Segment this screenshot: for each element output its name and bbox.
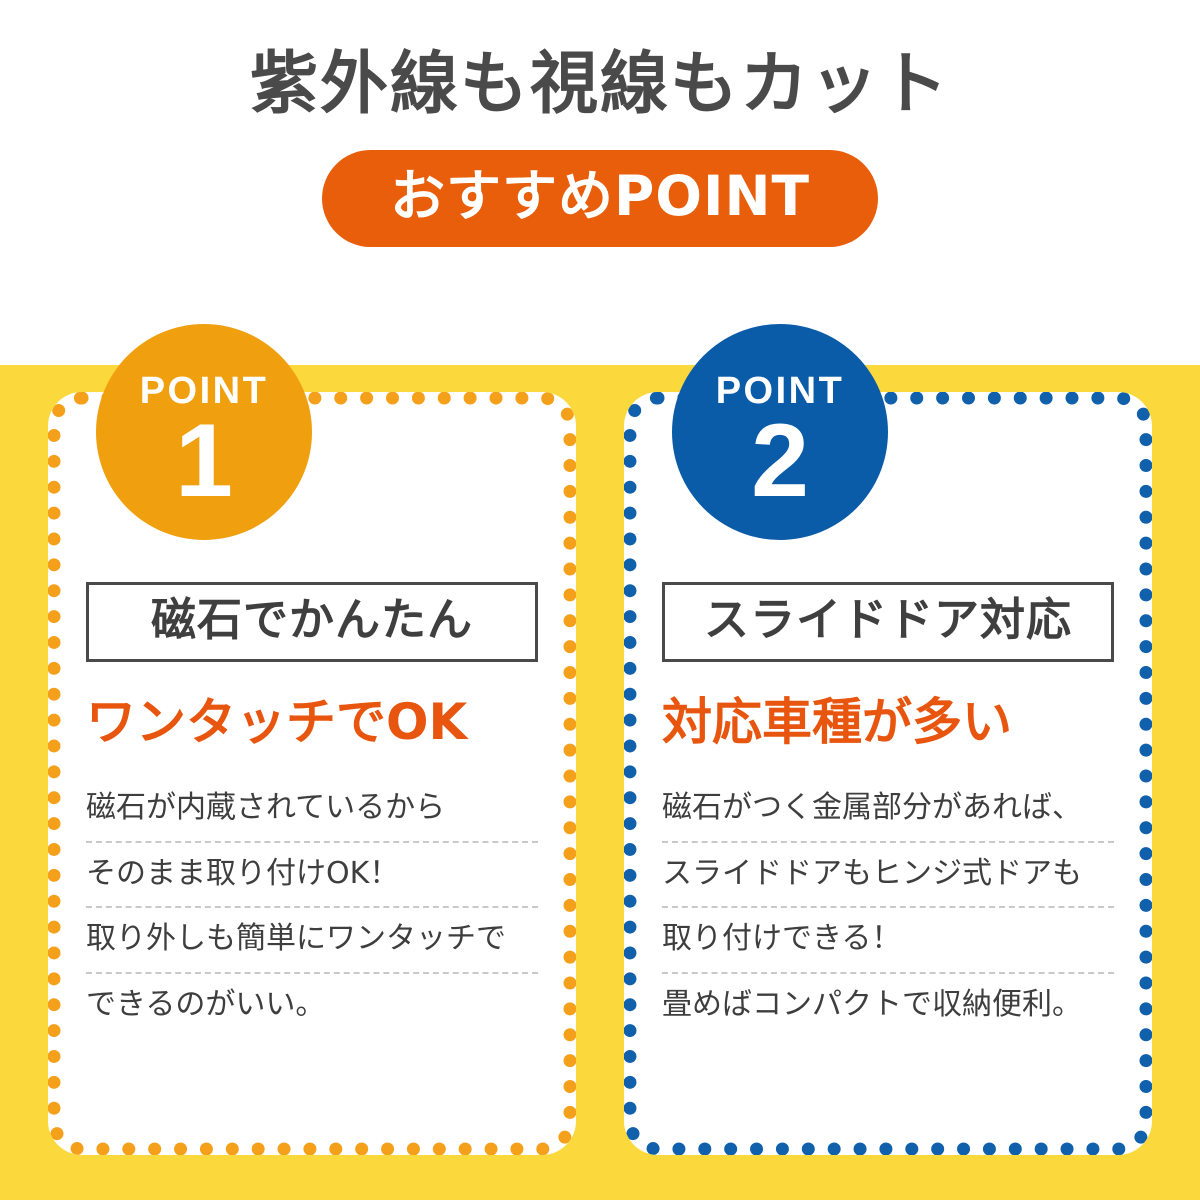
point-card-2-body: スライドドア対応 対応車種が多い 磁石がつく金属部分があれば、 スライドドアもヒ… [662, 582, 1114, 1037]
points-card-row: POINT 1 磁石でかんたん ワンタッチでOK 磁石が内蔵されているから その… [48, 392, 1152, 1155]
point-badge-1: POINT 1 [96, 324, 312, 540]
point-card-2-sub-heading: 対応車種が多い [662, 694, 1114, 752]
point-badge-1-number: 1 [175, 412, 233, 511]
point-card-1-boxed-heading: 磁石でかんたん [86, 582, 538, 662]
point-card-2-detail-list: 磁石がつく金属部分があれば、 スライドドアもヒンジ式ドアも 取り付けできる！ 畳… [662, 777, 1114, 1037]
point-card-1-body: 磁石でかんたん ワンタッチでOK 磁石が内蔵されているから そのまま取り付けOK… [86, 582, 538, 1037]
point-card-1-sub-heading: ワンタッチでOK [86, 694, 538, 752]
point-badge-2: POINT 2 [672, 324, 888, 540]
infographic-page: 紫外線も視線もカット おすすめPOINT POINT 1 磁石でかんたん ワンタ… [0, 0, 1200, 1200]
detail-line: スライドドアもヒンジ式ドアも [662, 843, 1114, 909]
detail-line: 磁石が内蔵されているから [86, 777, 538, 843]
recommended-point-banner-wrap: おすすめPOINT [0, 150, 1200, 247]
point-card-1-detail-list: 磁石が内蔵されているから そのまま取り付けOK！ 取り外しも簡単にワンタッチで … [86, 777, 538, 1037]
point-card-2: POINT 2 スライドドア対応 対応車種が多い 磁石がつく金属部分があれば、 … [624, 392, 1152, 1155]
detail-line: できるのがいい。 [86, 974, 538, 1038]
detail-line: 畳めばコンパクトで収納便利。 [662, 974, 1114, 1038]
point-badge-2-number: 2 [751, 412, 809, 511]
recommended-point-banner: おすすめPOINT [322, 150, 878, 247]
detail-line: そのまま取り付けOK！ [86, 843, 538, 909]
point-card-2-boxed-heading: スライドドア対応 [662, 582, 1114, 662]
detail-line: 取り付けできる！ [662, 908, 1114, 974]
header: 紫外線も視線もカット おすすめPOINT [0, 0, 1200, 247]
detail-line: 磁石がつく金属部分があれば、 [662, 777, 1114, 843]
page-title: 紫外線も視線もカット [0, 0, 1200, 124]
point-card-1: POINT 1 磁石でかんたん ワンタッチでOK 磁石が内蔵されているから その… [48, 392, 576, 1155]
detail-line: 取り外しも簡単にワンタッチで [86, 908, 538, 974]
